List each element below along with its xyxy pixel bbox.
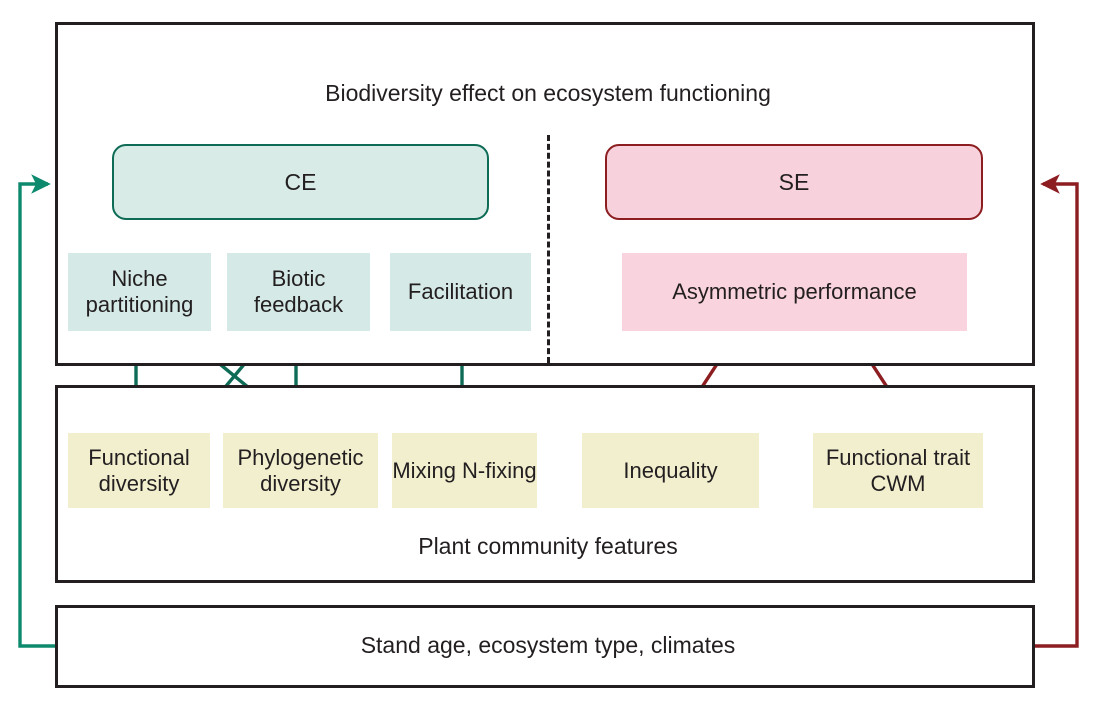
mechanism-label-niche-partitioning: Niche partitioning	[68, 266, 211, 318]
ce-se-divider	[547, 135, 550, 363]
mechanism-label-facilitation: Facilitation	[408, 279, 513, 305]
effect-box-se-label: SE	[779, 169, 810, 196]
feature-box-mixing-n-fixing[interactable]: Mixing N-fixing	[392, 433, 537, 508]
effect-box-se[interactable]: SE	[605, 144, 983, 220]
mechanism-box-facilitation[interactable]: Facilitation	[390, 253, 531, 331]
feature-box-inequality[interactable]: Inequality	[582, 433, 759, 508]
mechanism-label-asymmetric-performance: Asymmetric performance	[672, 279, 917, 305]
panel-biodiversity-effect-caption: Biodiversity effect on ecosystem functio…	[0, 80, 1096, 107]
mechanism-box-asymmetric-performance[interactable]: Asymmetric performance	[622, 253, 967, 331]
feature-box-functional-trait-cwm[interactable]: Functional trait CWM	[813, 433, 983, 508]
effect-box-ce[interactable]: CE	[112, 144, 489, 220]
feature-box-functional-diversity[interactable]: Functional diversity	[68, 433, 210, 508]
mechanism-label-biotic-feedback: Biotic feedback	[227, 266, 370, 318]
feature-label-functional-diversity: Functional diversity	[68, 445, 210, 497]
mechanism-box-niche-partitioning[interactable]: Niche partitioning	[68, 253, 211, 331]
mechanism-box-biotic-feedback[interactable]: Biotic feedback	[227, 253, 370, 331]
feature-box-phylogenetic-diversity[interactable]: Phylogenetic diversity	[223, 433, 378, 508]
connector-context-to-biodiversity-left	[20, 184, 55, 646]
connector-context-to-biodiversity-right	[1035, 184, 1077, 646]
diagram-canvas: Biodiversity effect on ecosystem functio…	[0, 0, 1096, 704]
panel-environmental-context-caption: Stand age, ecosystem type, climates	[0, 632, 1096, 659]
feature-label-phylogenetic-diversity: Phylogenetic diversity	[223, 445, 378, 497]
panel-plant-community-features-caption: Plant community features	[0, 533, 1096, 560]
effect-box-ce-label: CE	[285, 169, 317, 196]
feature-label-inequality: Inequality	[623, 458, 717, 484]
feature-label-mixing-n-fixing: Mixing N-fixing	[392, 458, 536, 484]
feature-label-functional-trait-cwm: Functional trait CWM	[813, 445, 983, 497]
